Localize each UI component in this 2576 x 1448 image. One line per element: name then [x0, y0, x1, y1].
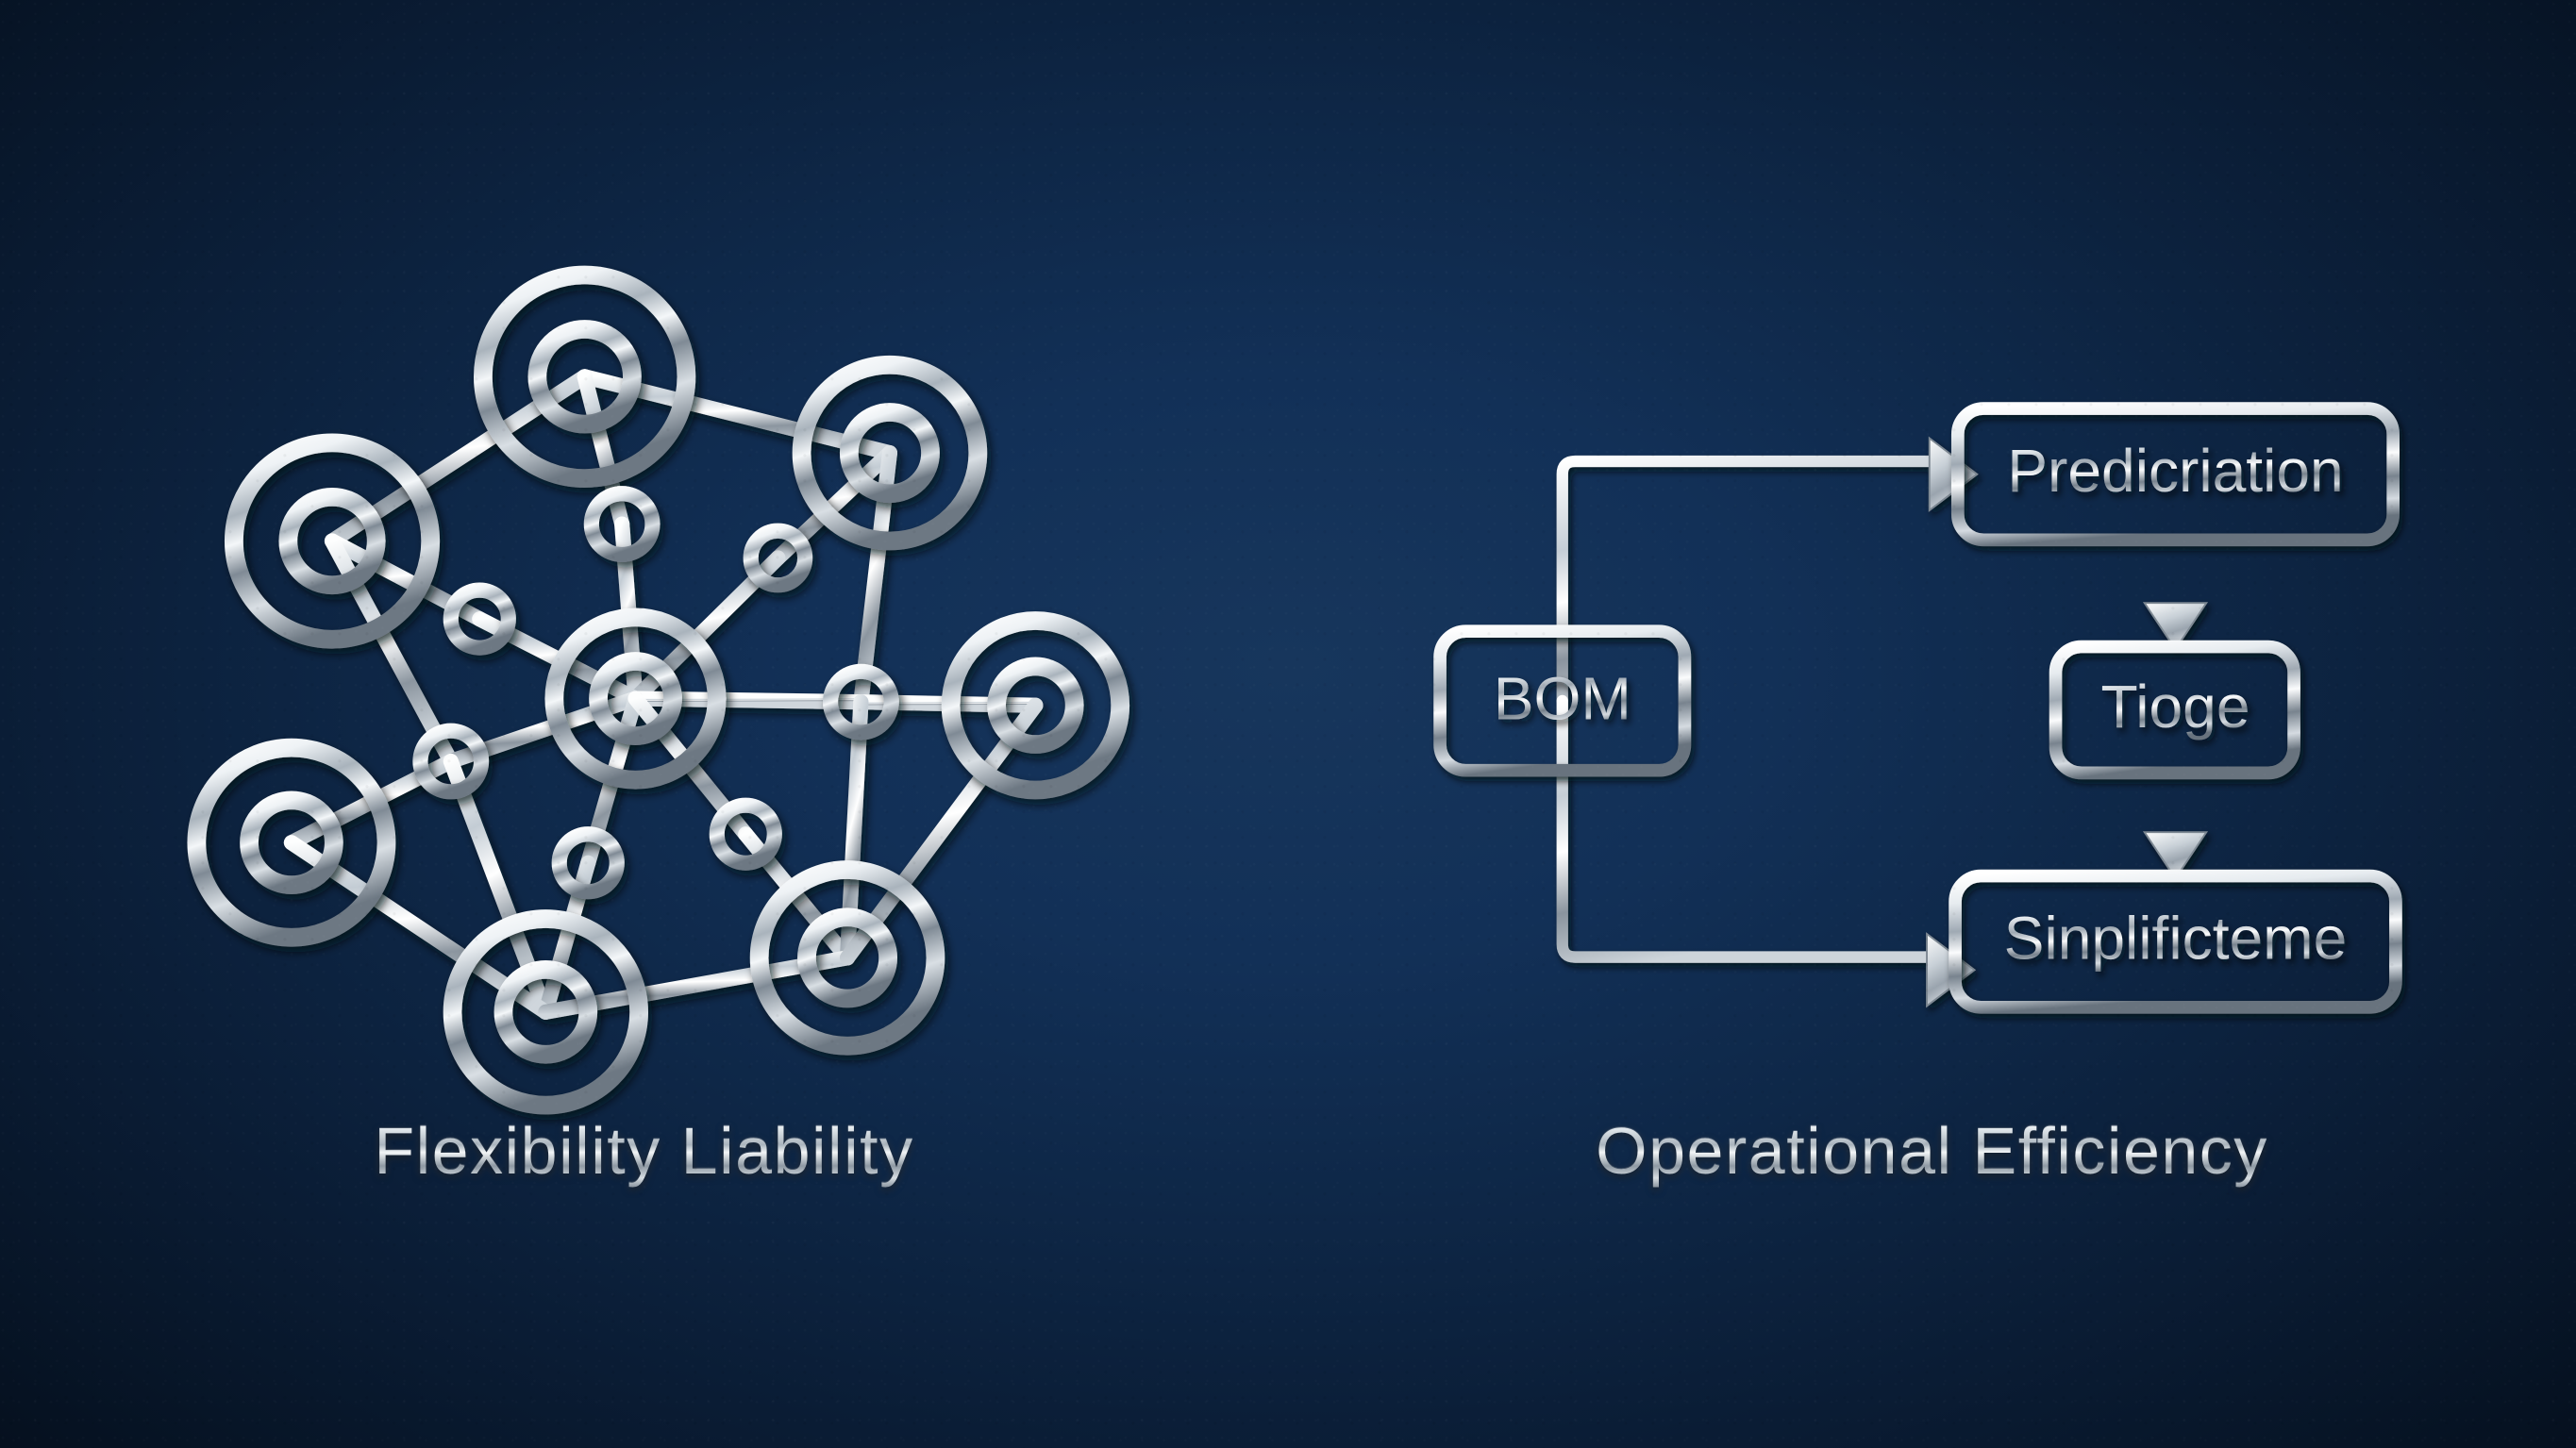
- slide-canvas: Flexibility Liability: [0, 0, 2576, 1448]
- network-graphic: [0, 0, 1288, 1448]
- flowchart-caption: Operational Efficiency: [1288, 1113, 2576, 1189]
- conn-bom-to-sinplificteme: [1563, 701, 1927, 957]
- flow-box-labels-group: BOM Predicriation Tioge Sinplificteme: [1494, 437, 2348, 972]
- box-tioge-label: Tioge: [2100, 673, 2250, 741]
- network-caption: Flexibility Liability: [0, 1113, 1288, 1189]
- box-bom-label: BOM: [1494, 665, 1631, 733]
- box-sinplificteme-label: Sinplificteme: [2004, 905, 2348, 973]
- network-panel: Flexibility Liability: [0, 0, 1288, 1448]
- flowchart-graphic: BOM Predicriation Tioge Sinplificteme: [1288, 0, 2576, 1448]
- flowchart-panel: BOM Predicriation Tioge Sinplificteme Op…: [1288, 0, 2576, 1448]
- box-predicriation-label: Predicriation: [2007, 437, 2344, 505]
